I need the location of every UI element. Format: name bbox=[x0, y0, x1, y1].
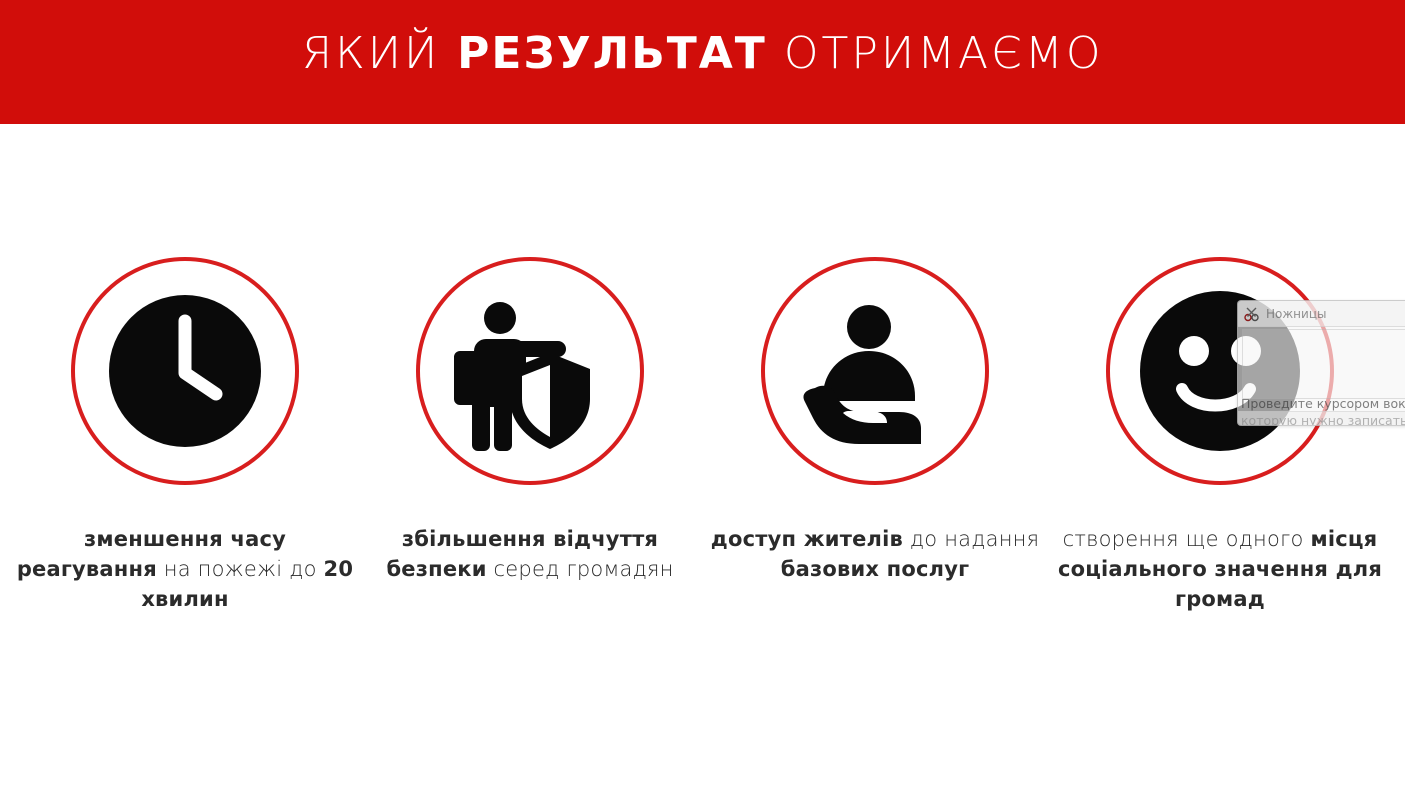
snipping-tool-title: Ножницы bbox=[1266, 307, 1326, 321]
caption-4: створення ще одного місця соціального зн… bbox=[1047, 524, 1393, 614]
snipping-tool-window[interactable]: Ножницы Проведите курсором вокруг област… bbox=[1237, 300, 1405, 426]
snipping-tool-statusbar bbox=[1238, 411, 1405, 425]
caption-2: збільшення відчуття безпеки серед громад… bbox=[357, 524, 703, 584]
hand-holding-person-icon bbox=[761, 257, 989, 485]
snipping-tool-titlebar[interactable]: Ножницы bbox=[1238, 301, 1405, 327]
caption-1: зменшення часу реагування на пожежі до 2… bbox=[12, 524, 358, 614]
caption-3: доступ жителів до надання базових послуг bbox=[702, 524, 1048, 584]
page-title-strong: РЕЗУЛЬТАТ bbox=[457, 28, 767, 79]
person-with-shield-icon bbox=[416, 257, 644, 485]
header-band: ЯКИЙ РЕЗУЛЬТАТ ОТРИМАЄМО bbox=[0, 0, 1405, 124]
clock-icon bbox=[71, 257, 299, 485]
caption-run: створення ще одного bbox=[1063, 527, 1311, 551]
caption-run: серед громадян bbox=[487, 557, 674, 581]
caption-run: реагування bbox=[17, 557, 157, 581]
caption-run: зменшення часу bbox=[84, 527, 286, 551]
page-title-suffix: ОТРИМАЄМО bbox=[767, 28, 1104, 79]
columns-container: зменшення часу реагування на пожежі до 2… bbox=[0, 124, 1405, 789]
caption-run: на пожежі до bbox=[157, 557, 324, 581]
page-title-prefix: ЯКИЙ bbox=[302, 28, 458, 79]
scissors-icon bbox=[1244, 306, 1260, 322]
caption-run: базових послуг bbox=[781, 557, 970, 581]
caption-run: збільшення відчуття bbox=[402, 527, 658, 551]
caption-run: безпеки bbox=[386, 557, 486, 581]
caption-run: до надання bbox=[903, 527, 1039, 551]
result-column-3: доступ жителів до надання базових послуг bbox=[702, 124, 1048, 684]
caption-run: доступ жителів bbox=[711, 527, 903, 551]
page-title: ЯКИЙ РЕЗУЛЬТАТ ОТРИМАЄМО bbox=[0, 26, 1405, 82]
snipping-tool-capture-area[interactable] bbox=[1242, 329, 1405, 399]
snipping-tool-prompt-line-1: Проведите курсором вокруг области, bbox=[1241, 395, 1405, 412]
result-column-2: збільшення відчуття безпеки серед громад… bbox=[357, 124, 703, 684]
result-column-1: зменшення часу реагування на пожежі до 2… bbox=[12, 124, 358, 684]
slide-root: ЯКИЙ РЕЗУЛЬТАТ ОТРИМАЄМО зменшення часу … bbox=[0, 0, 1405, 789]
